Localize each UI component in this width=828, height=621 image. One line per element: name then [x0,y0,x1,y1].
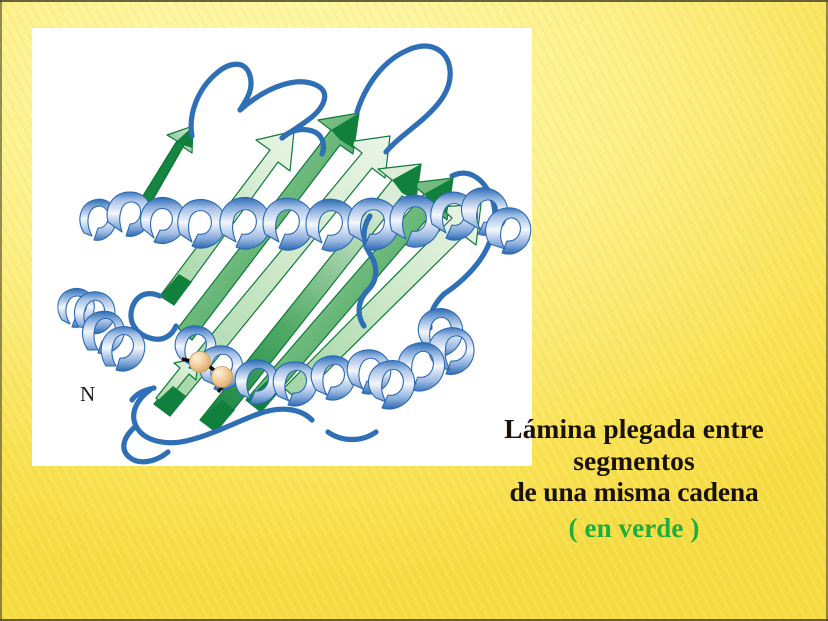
sulfur-atom-sphere [212,367,233,388]
n-terminus-label: N [80,382,95,406]
slide-top-border [0,0,828,2]
caption-line-2: segmentos [448,445,820,477]
caption-line-3: de una misma cadena [448,476,820,508]
slide-canvas: N Lámina plegada entre segmentos de una … [0,0,828,621]
caption-line-4-green: ( en verde ) [448,508,820,544]
caption-block: Lámina plegada entre segmentos de una mi… [448,413,820,544]
slide-left-border [0,0,2,621]
protein-ribbon-diagram: N [32,28,532,466]
sulfur-atom-sphere [190,352,211,373]
caption-line-1: Lámina plegada entre [448,413,820,445]
protein-structure-image-panel: N [32,28,532,466]
